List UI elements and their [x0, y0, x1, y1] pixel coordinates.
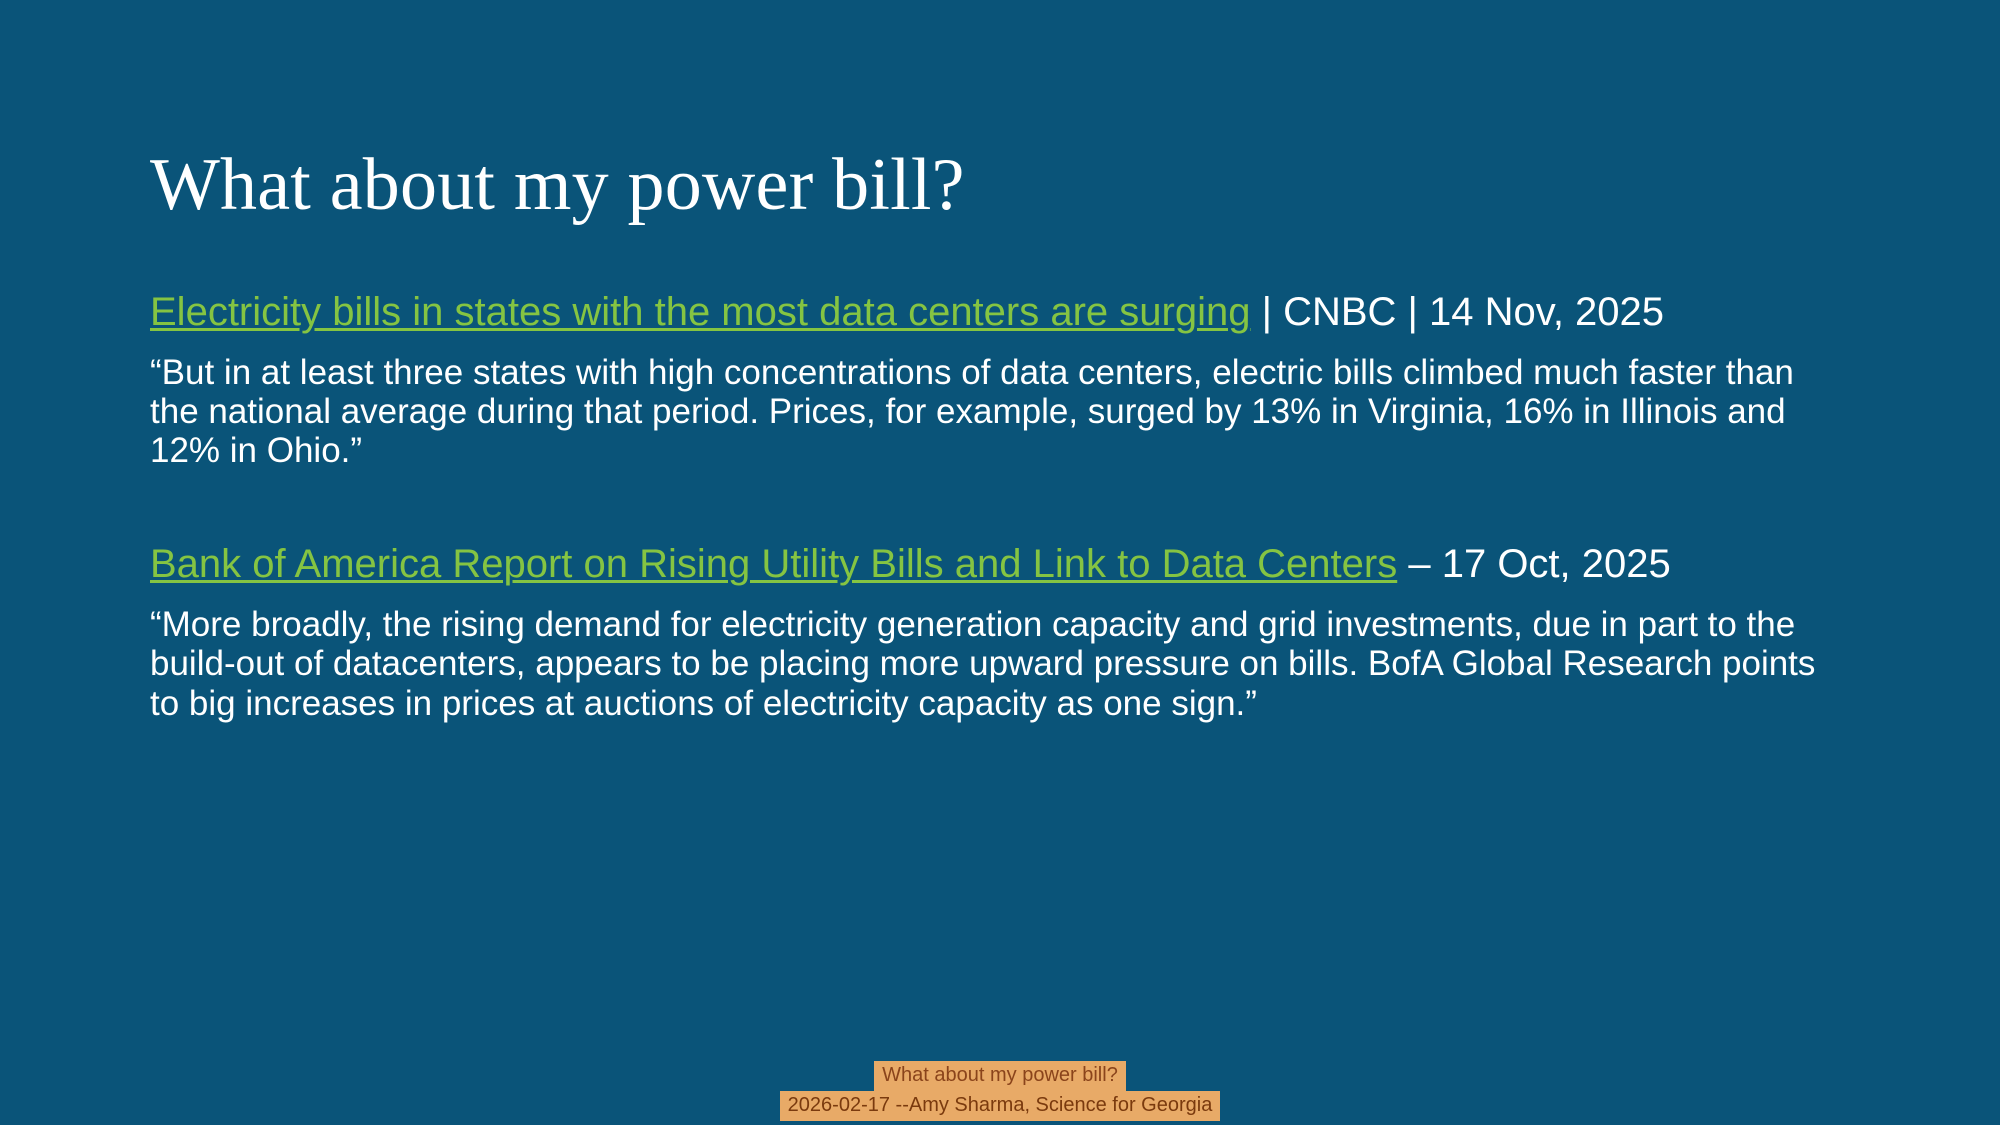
source-block-1: Electricity bills in states with the mos…: [150, 290, 1850, 470]
slide-footer: What about my power bill? 2026-02-17 --A…: [0, 1061, 2000, 1121]
source-heading-1: Electricity bills in states with the mos…: [150, 290, 1850, 335]
source-quote-1: “But in at least three states with high …: [150, 353, 1850, 471]
source-heading-2: Bank of America Report on Rising Utility…: [150, 542, 1850, 587]
block-spacer: [150, 470, 1850, 542]
source-link-2[interactable]: Bank of America Report on Rising Utility…: [150, 542, 1397, 586]
footer-credit: 2026-02-17 --Amy Sharma, Science for Geo…: [780, 1091, 1221, 1121]
source-meta-1: | CNBC | 14 Nov, 2025: [1250, 290, 1664, 334]
source-quote-2: “More broadly, the rising demand for ele…: [150, 605, 1850, 723]
source-block-2: Bank of America Report on Rising Utility…: [150, 542, 1850, 722]
slide-body: Electricity bills in states with the mos…: [150, 290, 1850, 723]
source-link-1[interactable]: Electricity bills in states with the mos…: [150, 290, 1250, 334]
slide-canvas: What about my power bill? Electricity bi…: [0, 0, 2000, 1125]
page-title: What about my power bill?: [150, 148, 1870, 222]
footer-slide-title: What about my power bill?: [874, 1061, 1126, 1091]
source-meta-2: – 17 Oct, 2025: [1397, 542, 1671, 586]
